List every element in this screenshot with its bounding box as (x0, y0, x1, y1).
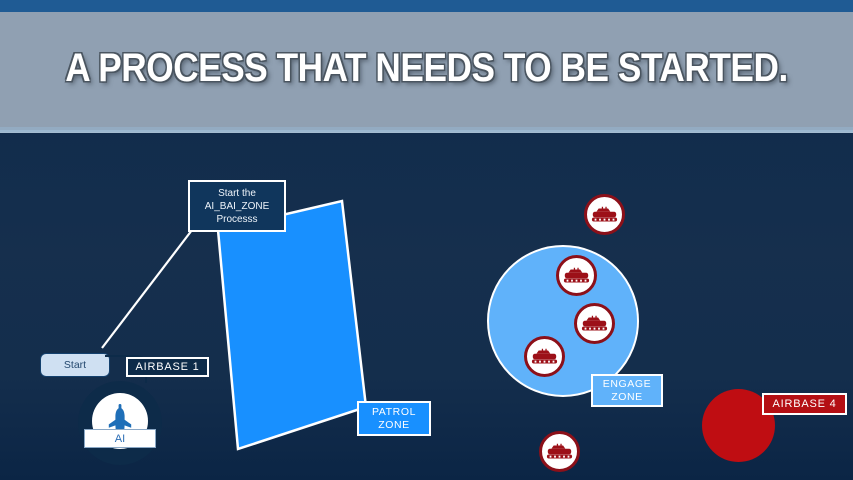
start-process-callout[interactable]: Start the AI_BAI_ZONE Processs (188, 180, 286, 232)
tank-marker-5[interactable] (539, 431, 580, 472)
tank-marker-4[interactable] (524, 336, 565, 377)
callout-line-1: Start the (218, 187, 256, 200)
tank-marker-1[interactable] (584, 194, 625, 235)
airbase-4-label[interactable]: AIRBASE 4 (762, 393, 847, 415)
airbase-1-label[interactable]: AIRBASE 1 (126, 357, 209, 377)
engage-zone-label[interactable]: ENGAGE ZONE (591, 374, 663, 407)
tank-marker-3[interactable] (574, 303, 615, 344)
airbase-1-node[interactable] (78, 381, 162, 465)
engage-zone-label-line2: ZONE (611, 391, 643, 404)
patrol-zone-polygon[interactable] (218, 201, 366, 449)
patrol-zone-label-line1: PATROL (372, 406, 416, 419)
tank-marker-2[interactable] (556, 255, 597, 296)
page-title: A PROCESS THAT NEEDS TO BE STARTED. (51, 46, 802, 91)
slide-canvas: A PROCESS THAT NEEDS TO BE STARTED. PATR… (0, 0, 853, 480)
airbase-1-sublabel[interactable]: AI (84, 429, 156, 448)
top-accent-strip (0, 0, 853, 12)
patrol-zone-label-line2: ZONE (378, 419, 410, 432)
start-button[interactable]: Start (40, 353, 110, 377)
patrol-zone-label[interactable]: PATROL ZONE (357, 401, 431, 436)
callout-line-2: AI_BAI_ZONE (205, 200, 269, 213)
engage-zone-label-line1: ENGAGE (603, 378, 652, 391)
title-band-underline (0, 127, 853, 132)
callout-line-3: Processs (216, 213, 257, 226)
patrol-zone-shape[interactable] (210, 195, 375, 455)
